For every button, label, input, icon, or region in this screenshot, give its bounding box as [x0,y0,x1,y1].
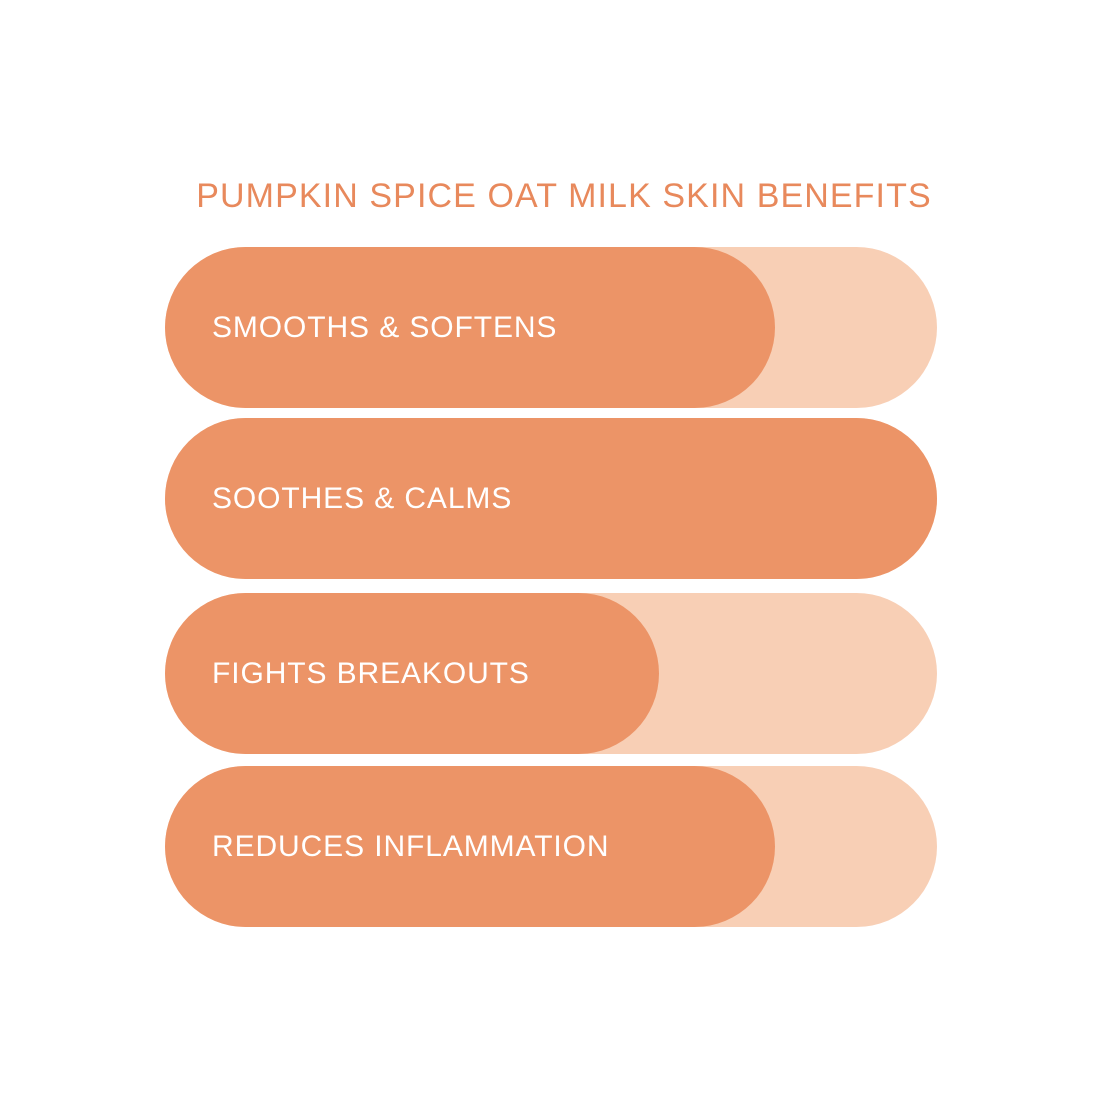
bar-row: FIGHTS BREAKOUTS [165,593,937,754]
bar-row: SMOOTHS & SOFTENS [165,247,937,408]
chart-title: PUMPKIN SPICE OAT MILK SKIN BENEFITS [184,176,944,216]
infographic-canvas: PUMPKIN SPICE OAT MILK SKIN BENEFITS SMO… [0,0,1100,1100]
bar-label: SOOTHES & CALMS [212,418,512,579]
bar-label: SMOOTHS & SOFTENS [212,247,557,408]
bar-label: REDUCES INFLAMMATION [212,766,609,927]
bar-label: FIGHTS BREAKOUTS [212,593,530,754]
bar-row: SOOTHES & CALMS [165,418,937,579]
benefit-bar-chart: SMOOTHS & SOFTENS SOOTHES & CALMS FIGHTS… [165,247,937,927]
bar-row: REDUCES INFLAMMATION [165,766,937,927]
